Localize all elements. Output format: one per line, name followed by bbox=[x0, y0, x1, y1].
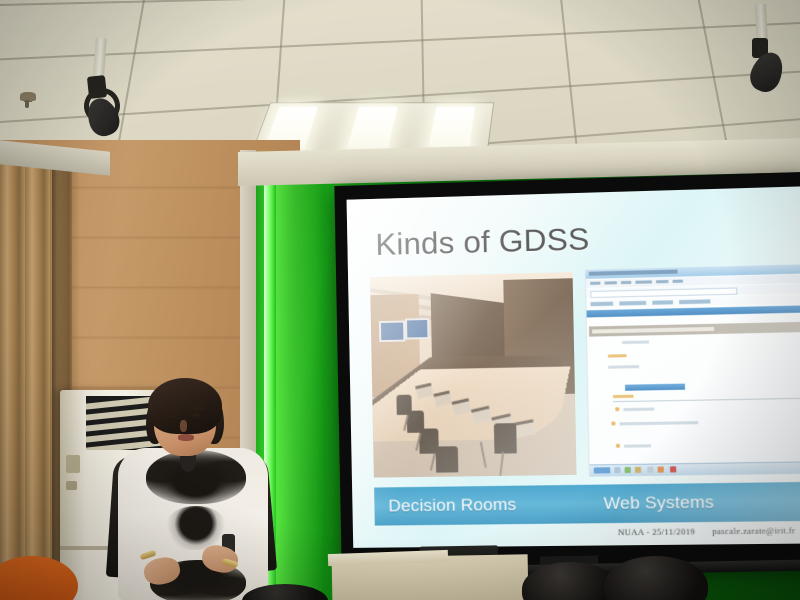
mouth bbox=[178, 434, 194, 441]
screenshot-color-cast bbox=[586, 264, 800, 476]
decision-room-photo bbox=[370, 272, 576, 477]
dress-pattern bbox=[164, 506, 228, 550]
photo-color-cast bbox=[370, 272, 576, 477]
dress-pattern bbox=[146, 450, 246, 504]
slide: Kinds of GDSS bbox=[347, 186, 800, 548]
web-system-screenshot bbox=[585, 264, 800, 476]
footer-event: NUAA - 25/11/2019 bbox=[618, 526, 695, 537]
slide-footer: NUAA - 25/11/2019 pascale.zarate@irit.fr bbox=[618, 525, 796, 537]
presenter bbox=[110, 378, 285, 600]
ac-control-panel bbox=[66, 455, 80, 473]
eye bbox=[192, 413, 200, 417]
ac-indicator bbox=[66, 481, 77, 490]
caption-web-systems: Web Systems bbox=[589, 482, 800, 524]
projection-screen: Kinds of GDSS bbox=[334, 172, 800, 568]
nose bbox=[180, 420, 187, 432]
slide-title: Kinds of GDSS bbox=[375, 221, 590, 263]
caption-decision-rooms: Decision Rooms bbox=[374, 485, 592, 526]
eye bbox=[168, 414, 176, 418]
footer-email: pascale.zarate@irit.fr bbox=[712, 525, 795, 536]
presentation-room-photo: Kinds of GDSS bbox=[0, 0, 800, 600]
sprinkler-icon bbox=[20, 92, 36, 101]
